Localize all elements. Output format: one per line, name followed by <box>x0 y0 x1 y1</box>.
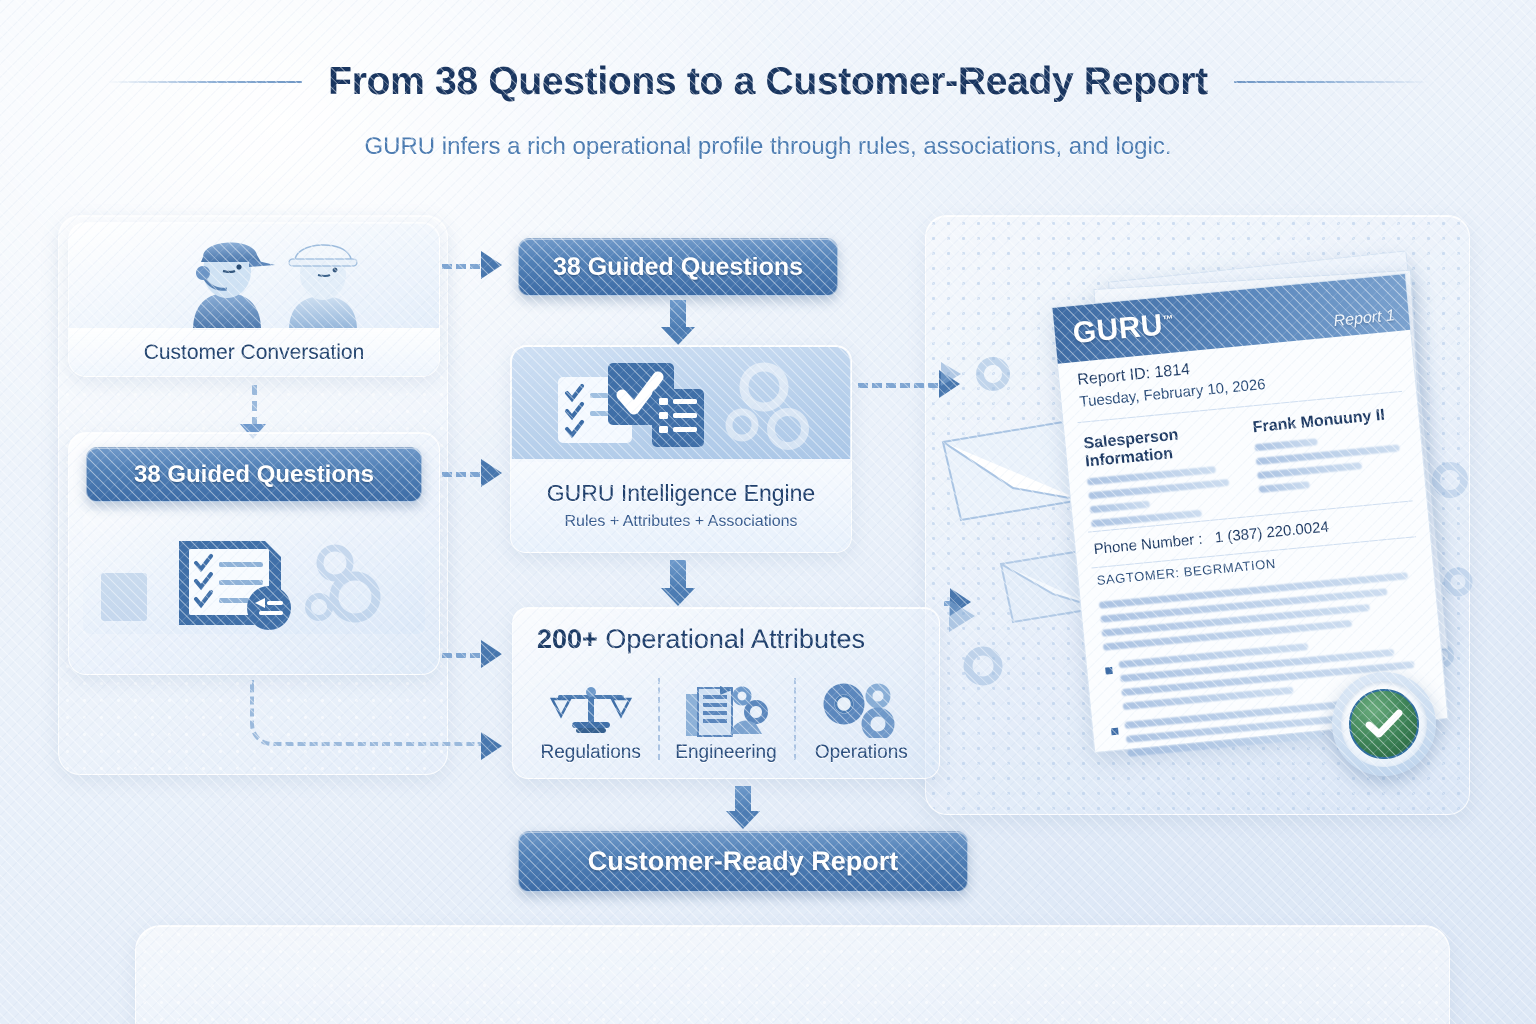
arrowhead-to-attributes <box>481 640 502 668</box>
arrowhead-engine-to-report <box>939 370 960 398</box>
elbow-connector-bottom <box>250 680 482 746</box>
arrowhead-elbow-bottom <box>481 732 502 760</box>
scales-balance-icon <box>548 682 634 738</box>
arrow-engine-to-attributes <box>670 560 686 589</box>
guru-intelligence-engine-card[interactable]: GURU Intelligence Engine Rules + Attribu… <box>510 345 852 553</box>
attribute-column-regulations[interactable]: Regulations <box>523 682 658 770</box>
pill-label: 38 Guided Questions <box>134 461 374 489</box>
pill-label: 38 Guided Questions <box>553 253 803 282</box>
bottom-background-panel <box>135 925 1450 1024</box>
title-rule-left <box>107 81 302 83</box>
connector-engine-to-report <box>858 383 938 388</box>
engine-title: GURU Intelligence Engine <box>547 480 815 507</box>
conversation-label-strip: Customer Conversation <box>69 328 439 376</box>
arrowhead-attributes-to-report <box>950 588 971 616</box>
attribute-label: Regulations <box>540 742 640 764</box>
engine-text-block: GURU Intelligence Engine Rules + Attribu… <box>511 459 851 552</box>
arrowhead-to-questions-pill <box>481 251 502 279</box>
infographic-canvas: From 38 Questions to a Customer-Ready Re… <box>0 0 1536 1024</box>
bullet-marker <box>1105 667 1113 675</box>
arrowhead-to-engine <box>481 459 502 487</box>
engine-subtitle: Rules + Attributes + Associations <box>564 513 797 531</box>
two-people-headset-hardhat-icon <box>69 223 439 330</box>
gears-icon <box>816 682 906 738</box>
page-subtitle: GURU infers a rich operational profile t… <box>0 133 1536 161</box>
attributes-title: 200+ Operational Attributes <box>537 624 865 655</box>
attributes-columns: Regulations <box>523 670 929 770</box>
salesperson-section-heading: Salesperson Information <box>1083 421 1236 471</box>
checklist-illustration <box>83 511 425 634</box>
arrow-attributes-to-report-pill <box>735 786 751 812</box>
connector-questions-to-engine <box>442 472 480 477</box>
engine-illustration <box>512 347 850 462</box>
pill-38-guided-questions-left[interactable]: 38 Guided Questions <box>86 447 422 502</box>
connector-conversation-to-center <box>442 264 480 269</box>
pill-customer-ready-report[interactable]: Customer-Ready Report <box>518 831 968 892</box>
conversation-label: Customer Conversation <box>144 341 365 365</box>
bullet-marker <box>1111 728 1119 736</box>
badge-disc <box>1349 689 1419 759</box>
attributes-title-rest: Operational Attributes <box>598 624 865 654</box>
operational-attributes-card[interactable]: 200+ Operational Attributes Regulations <box>512 607 940 779</box>
attribute-column-engineering[interactable]: Engineering <box>658 682 793 770</box>
check-icon <box>1364 708 1404 740</box>
connector-card-to-attributes <box>442 653 480 658</box>
report-salesperson-section: Salesperson Information Frank Monuuny II <box>1083 405 1410 527</box>
customer-conversation-card[interactable]: Customer Conversation <box>68 222 440 377</box>
phone-label: Phone Number : <box>1093 531 1203 558</box>
checklist-clipboard-gears-icon <box>83 511 425 634</box>
attribute-label: Engineering <box>675 742 776 764</box>
title-row: From 38 Questions to a Customer-Ready Re… <box>0 60 1536 104</box>
arrow-conversation-to-questions <box>252 385 257 427</box>
salesperson-name: Frank Monuuny II <box>1252 405 1403 437</box>
report-tag: Report 1 <box>1333 307 1396 331</box>
building-gears-icon <box>678 682 774 738</box>
arrow-questions-to-engine <box>670 300 686 328</box>
phone-value: 1 (387) 220.0024 <box>1214 519 1329 547</box>
green-check-badge-icon <box>1332 672 1436 776</box>
checklist-checkmark-gears-icon <box>512 347 850 462</box>
conversation-illustration <box>69 223 439 330</box>
trademark-mark: ™ <box>1162 313 1175 326</box>
attribute-label: Operations <box>815 742 908 764</box>
pill-label: Customer-Ready Report <box>588 846 899 877</box>
attributes-count: 200+ <box>537 624 598 654</box>
pill-38-guided-questions-center[interactable]: 38 Guided Questions <box>518 238 838 296</box>
attribute-column-operations[interactable]: Operations <box>794 682 929 770</box>
title-rule-right <box>1234 81 1429 83</box>
badge-ring <box>1341 681 1427 767</box>
panel-dot-texture <box>136 926 1449 1024</box>
page-title: From 38 Questions to a Customer-Ready Re… <box>328 60 1208 104</box>
guru-logo: GURU™ <box>1071 307 1176 351</box>
